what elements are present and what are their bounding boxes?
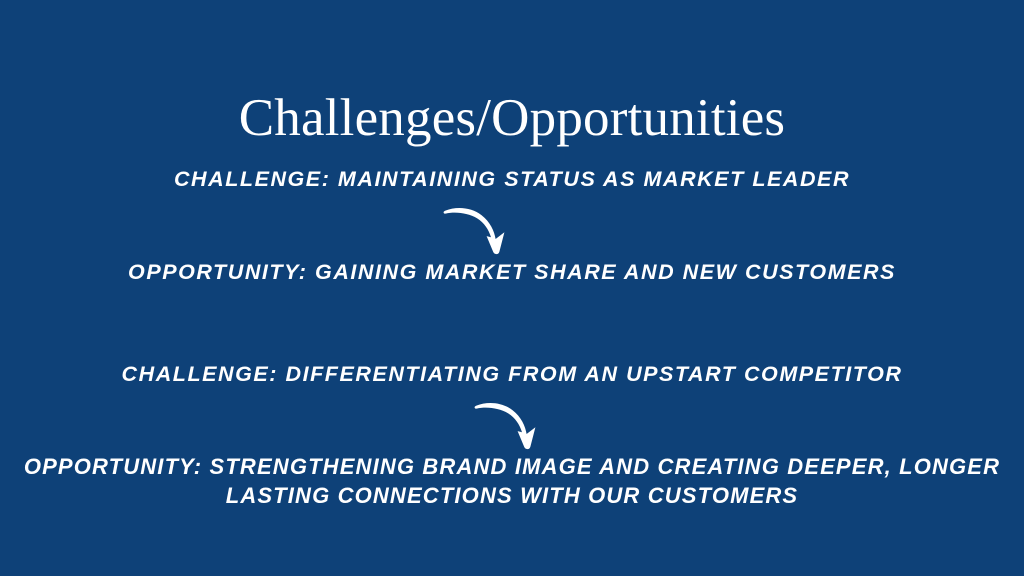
curved-down-right-arrow-icon xyxy=(474,400,546,450)
statement-challenge-2: Challenge: Differentiating from an upsta… xyxy=(14,361,1010,387)
presentation-slide: Challenges/Opportunities Challenge: Main… xyxy=(0,0,1024,576)
statement-challenge-1: Challenge: Maintaining status as market … xyxy=(14,166,1010,192)
statement-opportunity-1: Opportunity: Gaining market share and ne… xyxy=(14,259,1010,285)
curved-down-right-arrow-icon xyxy=(443,205,515,255)
page-title: Challenges/Opportunities xyxy=(0,90,1024,147)
statement-opportunity-2: Opportunity: Strengthening brand image a… xyxy=(8,453,1016,510)
